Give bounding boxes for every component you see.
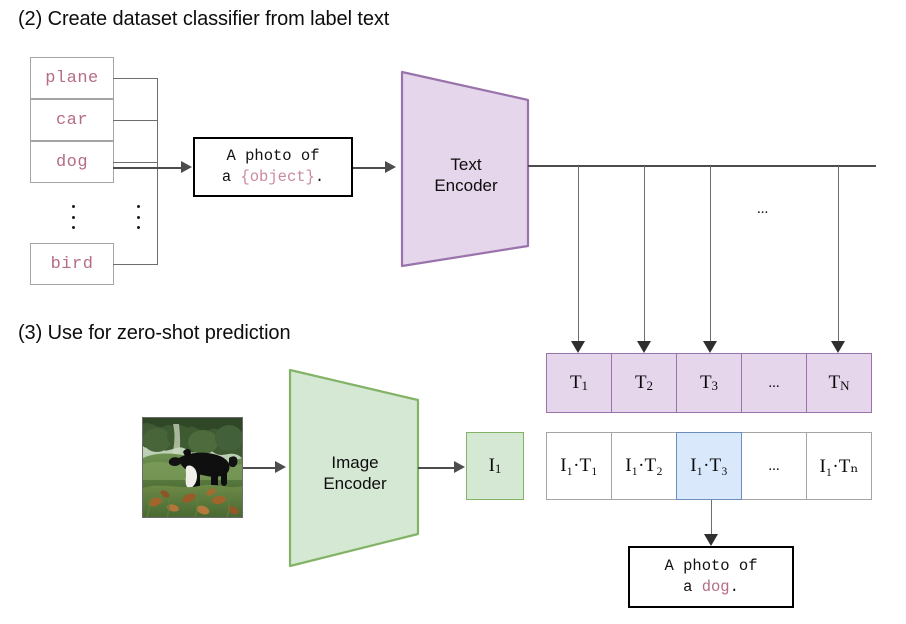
similarity-cell-n[interactable]: I₁·Tₙ	[806, 432, 872, 500]
cell-sub: N	[840, 378, 849, 394]
class-label-box-plane[interactable]: plane	[30, 57, 114, 99]
text-embedding-cell-t3[interactable]: T3	[676, 353, 742, 413]
ellipsis-dot	[72, 226, 75, 229]
similarity-cell-text: I₁·T₂	[625, 455, 663, 477]
connector-dog	[113, 162, 158, 163]
arrow-image-encoder-to-i1-shaft	[418, 467, 458, 469]
similarity-cell-2[interactable]: I₁·T₂	[611, 432, 677, 500]
prompt-slot: {object}	[240, 168, 314, 186]
cell-sub: 3	[712, 378, 719, 394]
arrow-labels-to-prompt-shaft	[113, 167, 185, 169]
similarity-row: I₁·T₁ I₁·T₂ I₁·T₃ ... I₁·Tₙ	[546, 432, 872, 500]
prediction-slot: dog	[702, 578, 730, 596]
prediction-line-2-suffix: .	[730, 578, 739, 596]
arrowhead-t3	[703, 341, 717, 353]
prediction-line-2: a dog.	[683, 577, 739, 598]
arrowhead-t2	[637, 341, 651, 353]
similarity-cell-text: I₁·T₁	[560, 455, 598, 477]
text-embedding-cell-t1[interactable]: T1	[546, 353, 612, 413]
cell-base: T	[635, 372, 647, 394]
text-embedding-bus	[528, 165, 876, 167]
cell-base: T	[570, 372, 582, 394]
cell-base: T	[700, 372, 712, 394]
bus-drop-tn	[838, 166, 839, 345]
arrow-prompt-to-text-encoder-head	[385, 161, 396, 173]
class-label-text-bird: bird	[51, 255, 94, 274]
ellipsis-dot	[72, 216, 75, 219]
cell-base: T	[829, 372, 841, 394]
class-label-box-bird[interactable]: bird	[30, 243, 114, 285]
image-embedding-cell-i1[interactable]: I1	[466, 432, 524, 500]
text-embedding-cell-ellipsis: ...	[741, 353, 807, 413]
arrow-image-encoder-to-i1-head	[454, 461, 465, 473]
cell-sub: 1	[495, 461, 502, 477]
ellipsis-dot	[137, 226, 140, 229]
class-label-box-car[interactable]: car	[30, 99, 114, 141]
photo-dog-illustration	[143, 418, 242, 517]
ellipsis-dot	[72, 205, 75, 208]
text-encoder-label: Text Encoder	[396, 154, 536, 196]
text-embedding-row: T1 T2 T3 ... TN	[546, 353, 872, 413]
connector-bird	[113, 264, 158, 265]
prediction-line-1: A photo of	[664, 556, 757, 577]
image-encoder-block[interactable]: Image Encoder	[284, 364, 426, 572]
arrow-prediction-shaft	[711, 500, 712, 538]
bus-drop-t1	[578, 166, 579, 345]
label-bus-line	[157, 78, 158, 265]
image-encoder-label-line1: Image	[284, 452, 426, 473]
image-encoder-label-line2: Encoder	[284, 473, 426, 494]
text-embedding-cell-t2[interactable]: T2	[611, 353, 677, 413]
similarity-cell-text: ...	[768, 458, 779, 475]
ellipsis-dot	[137, 205, 140, 208]
prompt-line-1: A photo of	[226, 146, 319, 167]
class-label-box-dog[interactable]: dog	[30, 141, 114, 183]
class-label-text-car: car	[56, 111, 88, 130]
clip-diagram: (2) Create dataset classifier from label…	[0, 0, 906, 624]
prompt-line-2-suffix: .	[315, 168, 324, 186]
text-embedding-cell-tn[interactable]: TN	[806, 353, 872, 413]
arrowhead-t1	[571, 341, 585, 353]
prompt-line-2: a {object}.	[222, 167, 324, 188]
ellipsis-dot	[137, 216, 140, 219]
bus-drop-t3	[710, 166, 711, 345]
arrow-prompt-to-text-encoder-shaft	[353, 167, 389, 169]
section-title-2: (2) Create dataset classifier from label…	[18, 8, 389, 31]
text-encoder-label-line2: Encoder	[396, 175, 536, 196]
similarity-cell-ellipsis: ...	[741, 432, 807, 500]
cell-ellipsis: ...	[768, 375, 779, 392]
class-label-text-plane: plane	[45, 69, 99, 88]
arrow-labels-to-prompt-head	[181, 161, 192, 173]
vertical-ellipsis-bus	[135, 205, 141, 229]
prediction-line-2-prefix: a	[683, 578, 702, 596]
prediction-box[interactable]: A photo of a dog.	[628, 546, 794, 608]
connector-car	[113, 120, 158, 121]
prompt-line-2-prefix: a	[222, 168, 241, 186]
cell-sub: 1	[582, 378, 589, 394]
similarity-cell-3-selected[interactable]: I₁·T₃	[676, 432, 742, 500]
vertical-ellipsis-labels	[70, 205, 76, 229]
connector-plane	[113, 78, 158, 79]
text-encoder-block[interactable]: Text Encoder	[396, 66, 536, 272]
prompt-template-box[interactable]: A photo of a {object}.	[193, 137, 353, 197]
arrow-photo-to-image-encoder-shaft	[243, 467, 279, 469]
arrow-prediction-head	[704, 534, 718, 546]
bus-drop-t2	[644, 166, 645, 345]
text-encoder-label-line1: Text	[396, 154, 536, 175]
input-photo[interactable]	[142, 417, 243, 518]
bus-ellipsis: ...	[757, 201, 768, 218]
cell-sub: 2	[647, 378, 654, 394]
similarity-cell-text: I₁·Tₙ	[819, 455, 858, 478]
similarity-cell-1[interactable]: I₁·T₁	[546, 432, 612, 500]
section-title-3: (3) Use for zero-shot prediction	[18, 322, 290, 345]
image-encoder-label: Image Encoder	[284, 452, 426, 494]
class-label-text-dog: dog	[56, 153, 88, 172]
arrowhead-tn	[831, 341, 845, 353]
similarity-cell-text: I₁·T₃	[690, 455, 728, 477]
